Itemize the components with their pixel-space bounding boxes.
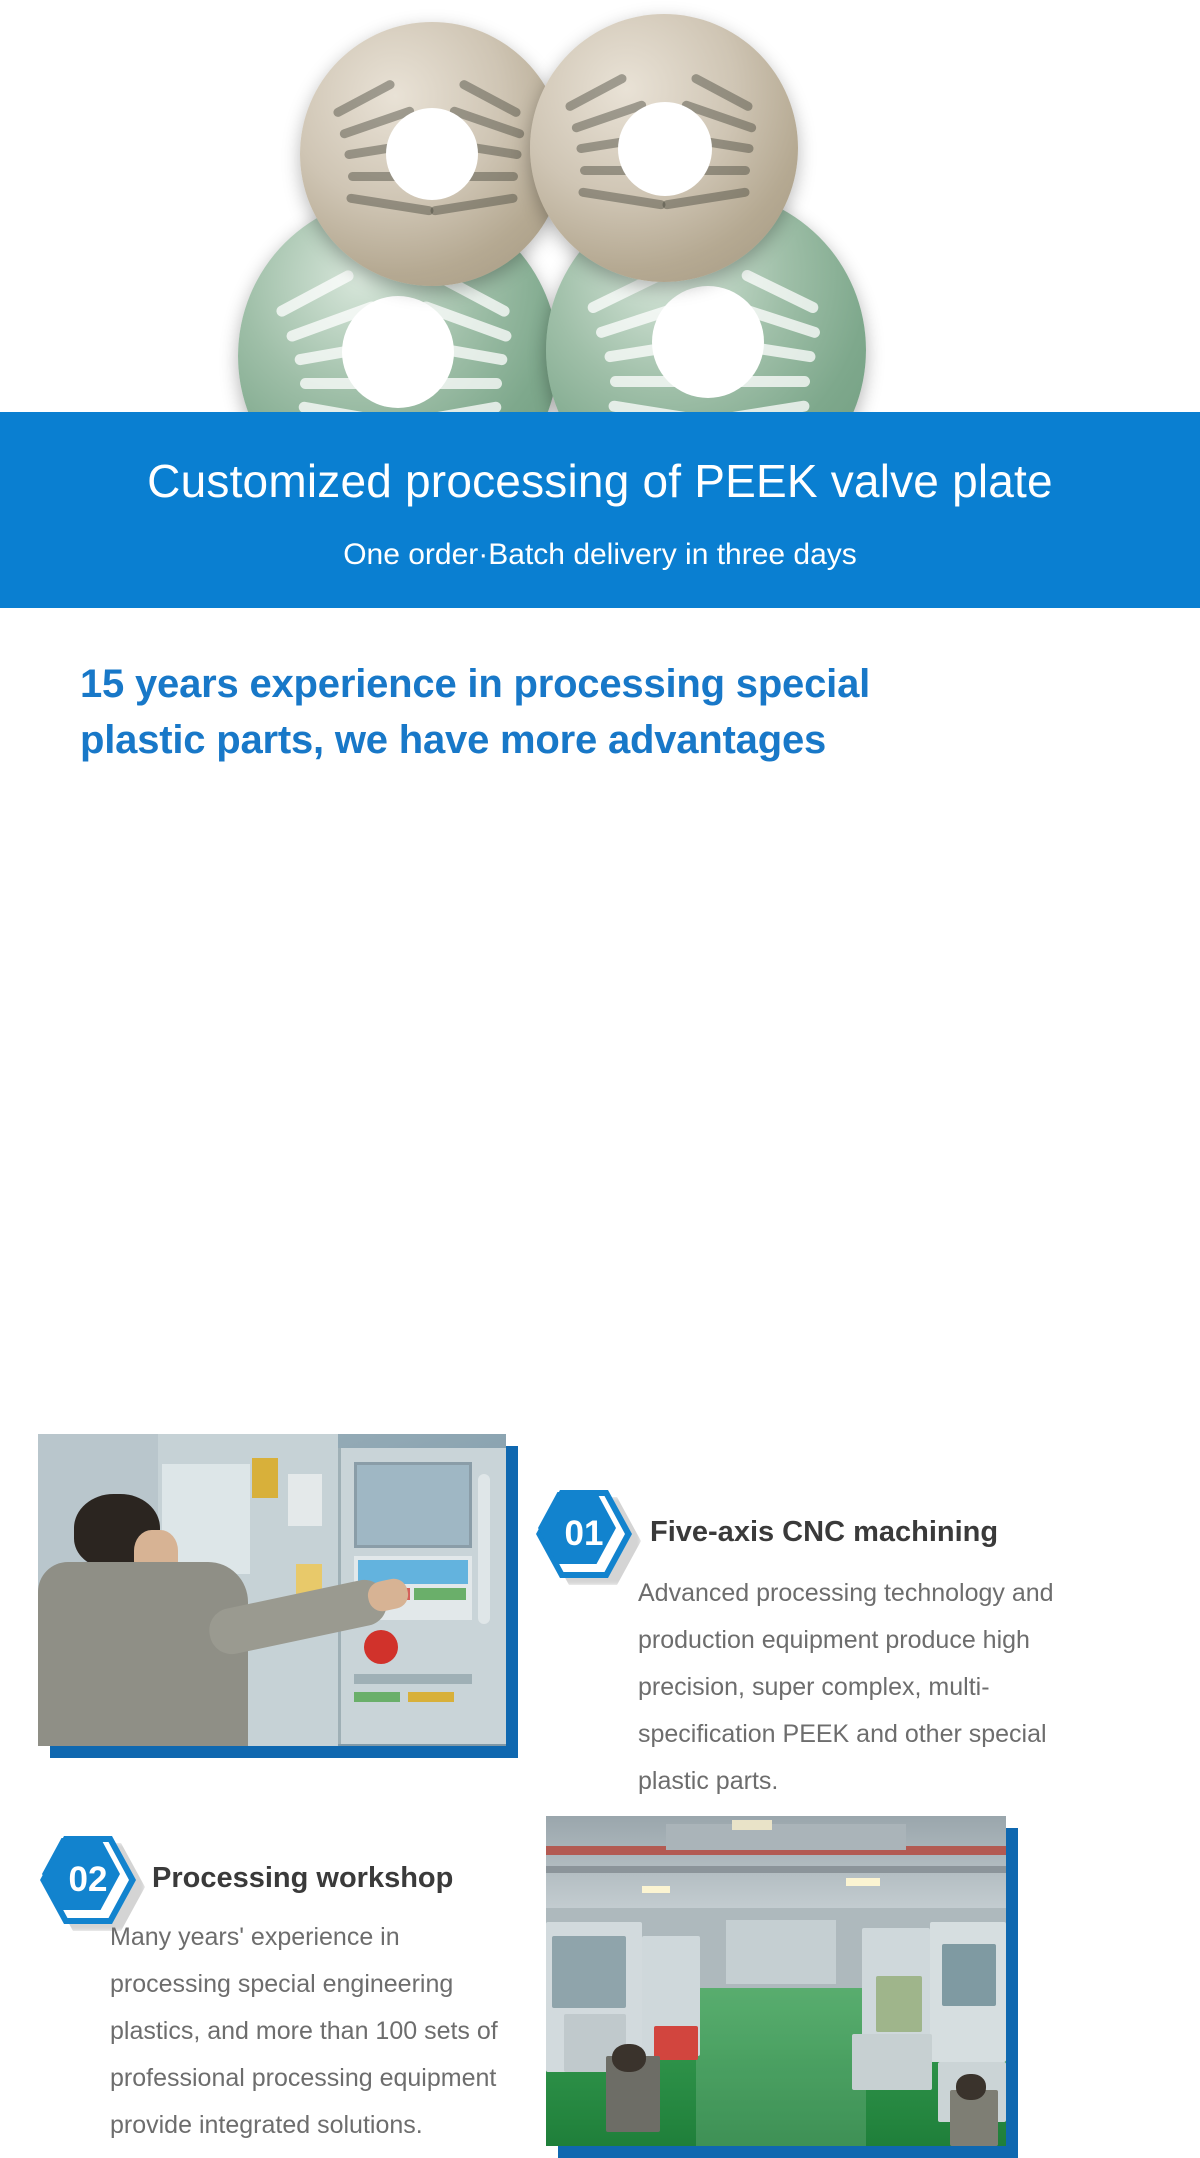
feature-01-number: 01: [536, 1490, 632, 1578]
hero-product-photo: [0, 0, 1200, 470]
valve-plate-metal-left: [300, 22, 564, 286]
feature-02-number: 02: [40, 1836, 136, 1924]
section-heading: 15 years experience in processing specia…: [80, 656, 1080, 768]
section-heading-line1: 15 years experience in processing specia…: [80, 656, 1080, 712]
hero-banner: Customized processing of PEEK valve plat…: [0, 412, 1200, 608]
section-heading-line2: plastic parts, we have more advantages: [80, 712, 1080, 768]
feature-02-title: Processing workshop: [152, 1862, 453, 1895]
feature-02-badge: 02: [40, 1836, 136, 1924]
feature-01-photo: [38, 1434, 506, 1746]
feature-01-title: Five-axis CNC machining: [650, 1516, 998, 1549]
feature-02-body: Many years' experience in processing spe…: [110, 1914, 522, 2149]
hero-section: Customized processing of PEEK valve plat…: [0, 0, 1200, 608]
valve-plate-metal-right: [530, 14, 798, 282]
hero-banner-title: Customized processing of PEEK valve plat…: [0, 458, 1200, 504]
hero-banner-subtitle: One order·Batch delivery in three days: [0, 540, 1200, 570]
feature-01-body: Advanced processing technology and produ…: [638, 1570, 1068, 1805]
feature-01-badge: 01: [536, 1490, 632, 1578]
feature-02-photo: [546, 1816, 1006, 2146]
